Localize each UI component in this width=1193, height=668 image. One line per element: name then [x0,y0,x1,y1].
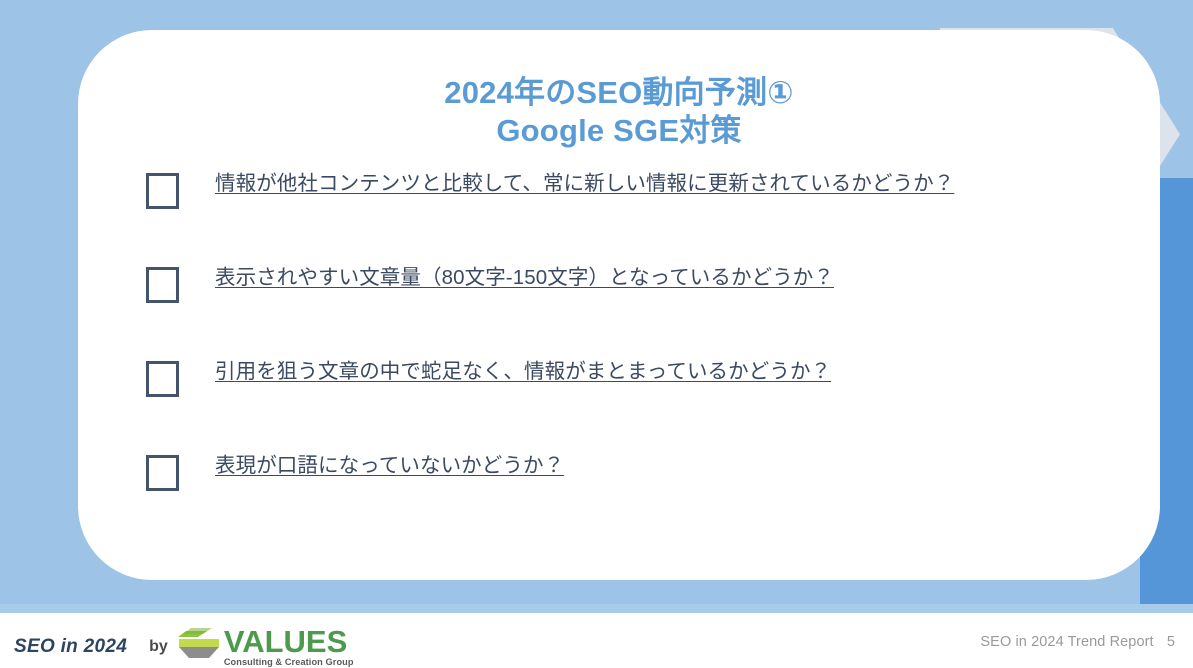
checkbox-icon[interactable] [146,455,179,491]
checklist-item-label: 表現が口語になっていないかどうか？ [215,450,564,482]
checklist-item-label: 表示されやすい文章量（80文字-150文字）となっているかどうか？ [215,262,834,294]
content-card: 2024年のSEO動向予測① Google SGE対策 情報が他社コンテンツと比… [78,30,1160,580]
values-layers-icon [177,628,221,660]
values-wordmark: VALUES Consulting & Creation Group [224,627,354,668]
checklist-item[interactable]: 表現が口語になっていないかどうか？ [146,450,1106,544]
checklist-item-label: 引用を狙う文章の中で蛇足なく、情報がまとまっているかどうか？ [215,356,831,388]
values-logo: VALUES Consulting & Creation Group [177,627,354,668]
footer-by-label: by [149,638,168,656]
page-title-line-2: Google SGE対策 [78,112,1160,150]
slide: 2024年のSEO動向予測① Google SGE対策 情報が他社コンテンツと比… [0,0,1193,668]
checklist: 情報が他社コンテンツと比較して、常に新しい情報に更新されているかどうか？ 表示さ… [146,168,1106,544]
checkbox-icon[interactable] [146,361,179,397]
checklist-item-label: 情報が他社コンテンツと比較して、常に新しい情報に更新されているかどうか？ [215,168,954,200]
page-title: 2024年のSEO動向予測① Google SGE対策 [78,74,1160,150]
checklist-item[interactable]: 情報が他社コンテンツと比較して、常に新しい情報に更新されているかどうか？ [146,168,1106,262]
page-title-line-1: 2024年のSEO動向予測① [78,74,1160,112]
footer-page-number: 5 [1167,634,1175,650]
checklist-item[interactable]: 表示されやすい文章量（80文字-150文字）となっているかどうか？ [146,262,1106,356]
checkbox-icon[interactable] [146,267,179,303]
footer-report-info: SEO in 2024 Trend Report 5 [980,634,1175,650]
footer: SEO in 2024 by VALUES Consulting & Creat… [0,613,1193,668]
checklist-item[interactable]: 引用を狙う文章の中で蛇足なく、情報がまとまっているかどうか？ [146,356,1106,450]
footer-seo-label: SEO in 2024 [14,636,127,658]
footer-branding: SEO in 2024 by VALUES Consulting & Creat… [14,627,354,668]
values-logo-word: VALUES [224,627,354,656]
checkbox-icon[interactable] [146,173,179,209]
footer-report-label: SEO in 2024 Trend Report [980,634,1153,650]
values-logo-tagline: Consulting & Creation Group [224,658,354,667]
bottom-band-decoration [0,604,1193,613]
